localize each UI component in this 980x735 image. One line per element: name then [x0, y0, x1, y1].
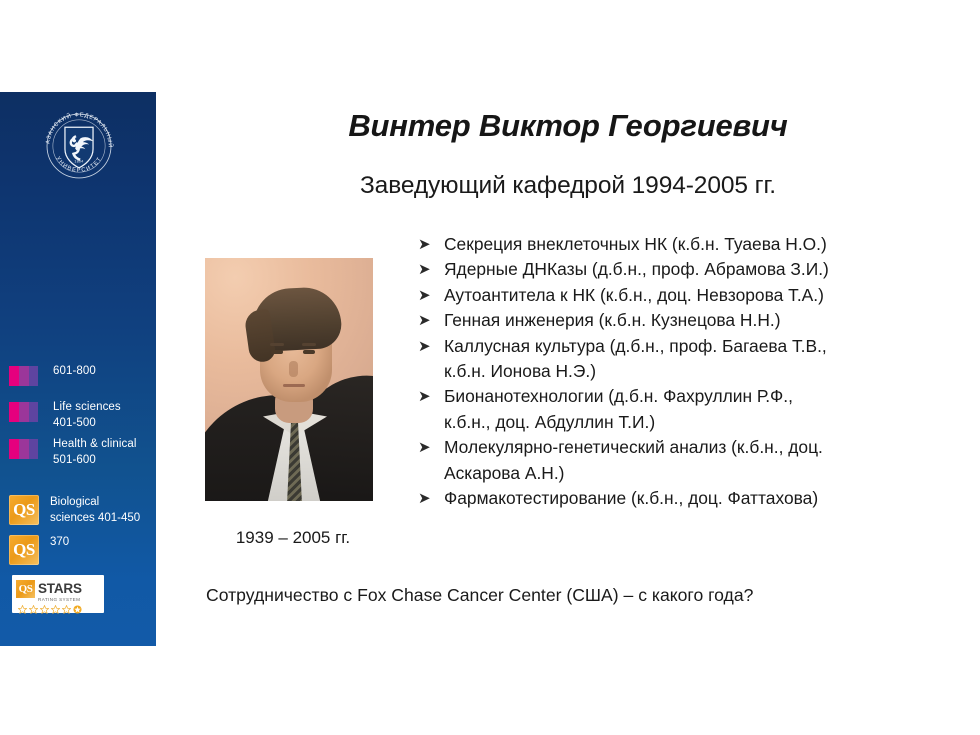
qs-stars-header: QS STARS — [16, 579, 100, 598]
qs-logo-icon: QS — [16, 580, 35, 598]
list-item: ➤ Ядерные ДНКазы (д.б.н., проф. Абрамова… — [418, 257, 970, 282]
list-item: ➤ Секреция внеклеточных НК (к.б.н. Туаев… — [418, 232, 970, 257]
bullet-arrow-icon: ➤ — [418, 486, 444, 511]
page-title: Винтер Виктор Георгиевич — [156, 108, 980, 144]
qs-ranking-badge-biological-sciences: QS Biological sciences 401-450 — [9, 495, 140, 526]
list-item-label: Секреция внеклеточных НК (к.б.н. Туаева … — [444, 232, 970, 257]
photo-mouth — [283, 384, 305, 387]
sidebar-branding-panel: КАЗАНСКИЙ ФЕДЕРАЛЬНЫЙ УНИВЕРСИТЕТ 1804 — [0, 92, 156, 646]
qs-badge-label: 370 — [50, 535, 69, 551]
photo-caption: 1939 – 2005 гг. — [205, 528, 381, 548]
portrait-photo — [205, 258, 373, 501]
bullet-arrow-icon: ➤ — [418, 257, 444, 282]
qs-stars-star-row — [16, 605, 100, 614]
list-item: ➤ Фармакотестирование (к.б.н., доц. Фатт… — [418, 486, 970, 511]
university-emblem: КАЗАНСКИЙ ФЕДЕРАЛЬНЫЙ УНИВЕРСИТЕТ 1804 — [40, 106, 118, 186]
the-logo-icon — [9, 437, 41, 461]
list-item-label: Каллусная культура (д.б.н., проф. Багаев… — [444, 334, 970, 385]
qs-logo-icon: QS — [9, 535, 39, 565]
page-subtitle: Заведующий кафедрой 1994-2005 гг. — [156, 172, 980, 200]
bullet-arrow-icon: ➤ — [418, 334, 444, 359]
star-icon — [40, 605, 49, 614]
qs-stars-subtitle: RATING SYSTEM — [38, 597, 100, 603]
the-ranking-badge-health-clinical: Health & clinical 501-600 — [9, 437, 137, 468]
list-item-label: Фармакотестирование (к.б.н., доц. Фаттах… — [444, 486, 970, 511]
list-item-label: Генная инженерия (к.б.н. Кузнецова Н.Н.) — [444, 308, 970, 333]
star-icon — [51, 605, 60, 614]
qs-stars-rating-badge: QS STARS RATING SYSTEM — [12, 575, 104, 613]
list-item-label: Ядерные ДНКазы (д.б.н., проф. Абрамова З… — [444, 257, 970, 282]
the-badge-label: Life sciences 401-500 — [53, 400, 121, 431]
qs-logo-text: QS — [16, 580, 35, 598]
star-icon — [18, 605, 27, 614]
the-logo-icon — [9, 400, 41, 424]
bullet-arrow-icon: ➤ — [418, 435, 444, 460]
the-badge-label: 601-800 — [53, 364, 96, 380]
list-item: ➤ Генная инженерия (к.б.н. Кузнецова Н.Н… — [418, 308, 970, 333]
qs-logo-icon: QS — [9, 495, 39, 525]
slide-canvas: КАЗАНСКИЙ ФЕДЕРАЛЬНЫЙ УНИВЕРСИТЕТ 1804 — [0, 0, 980, 735]
list-item: ➤ Аутоантитела к НК (к.б.н., доц. Невзор… — [418, 283, 970, 308]
photo-eye-right — [303, 350, 315, 354]
star-icon — [29, 605, 38, 614]
list-item-label: Аутоантитела к НК (к.б.н., доц. Невзоров… — [444, 283, 970, 308]
bullet-arrow-icon: ➤ — [418, 232, 444, 257]
list-item-label: Бионанотехнологии (д.б.н. Фахруллин Р.Ф.… — [444, 384, 970, 435]
qs-logo-text: QS — [9, 535, 39, 565]
list-item: ➤ Каллусная культура (д.б.н., проф. Бага… — [418, 334, 970, 385]
photo-eye-left — [271, 350, 283, 354]
qs-stars-word: STARS — [38, 582, 82, 596]
photo-nose — [289, 361, 298, 377]
svg-text:1804: 1804 — [74, 159, 83, 163]
the-badge-label: Health & clinical 501-600 — [53, 437, 137, 468]
list-item-label: Молекулярно-генетический анализ (к.б.н.,… — [444, 435, 970, 486]
list-item: ➤ Бионанотехнологии (д.б.н. Фахруллин Р.… — [418, 384, 970, 435]
the-ranking-badge-overall: 601-800 — [9, 364, 96, 388]
qs-logo-text: QS — [9, 495, 39, 525]
photo-brow-left — [270, 343, 284, 346]
star-icon — [62, 605, 71, 614]
bullet-arrow-icon: ➤ — [418, 384, 444, 409]
collaboration-question: Сотрудничество с Fox Chase Cancer Center… — [206, 583, 946, 607]
the-logo-icon — [9, 364, 41, 388]
research-topics-list: ➤ Секреция внеклеточных НК (к.б.н. Туаев… — [418, 232, 970, 511]
bullet-arrow-icon: ➤ — [418, 308, 444, 333]
list-item: ➤ Молекулярно-генетический анализ (к.б.н… — [418, 435, 970, 486]
photo-brow-right — [302, 343, 316, 346]
the-ranking-badge-life-sciences: Life sciences 401-500 — [9, 400, 121, 431]
qs-ranking-badge-overall: QS 370 — [9, 535, 69, 565]
bullet-arrow-icon: ➤ — [418, 283, 444, 308]
star-icon-highlighted — [73, 605, 82, 614]
qs-badge-label: Biological sciences 401-450 — [50, 495, 140, 526]
